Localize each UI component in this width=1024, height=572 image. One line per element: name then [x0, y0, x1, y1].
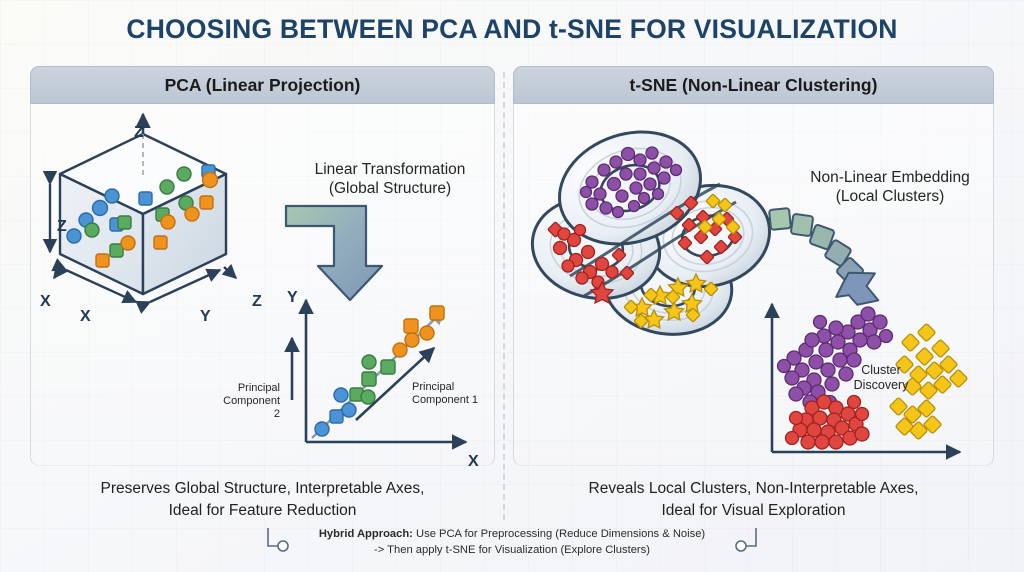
- tsne-embedding-arrow: [768, 205, 898, 305]
- cluster-red: [786, 395, 870, 449]
- pc1-label-line2: Component 1: [412, 394, 496, 407]
- cube-axis-z-outer: Z: [252, 293, 262, 311]
- caption-tsne: Reveals Local Clusters, Non-Interpretabl…: [513, 478, 994, 521]
- footer-bold-prefix: Hybrid Approach:: [319, 528, 413, 540]
- cube-axis-x-outer: X: [40, 293, 51, 311]
- proj-axis-x-label: X: [468, 453, 479, 471]
- cluster-discovery-label: Cluster Discovery: [826, 363, 936, 394]
- cluster-purple: [778, 307, 893, 409]
- caption-pca: Preserves Global Structure, Interpretabl…: [30, 478, 495, 521]
- cube-axis-y-inner: Y: [200, 308, 211, 326]
- tsne-manifold-figure: [530, 126, 780, 336]
- pca-process-label: Linear Transformation (Global Structure): [290, 160, 490, 199]
- cube-axis-x-inner: X: [80, 308, 91, 326]
- caption-pca-line1: Preserves Global Structure, Interpretabl…: [30, 478, 495, 500]
- caption-pca-line2: Ideal for Feature Reduction: [30, 500, 495, 522]
- panel-pca-header: PCA (Linear Projection): [30, 66, 495, 104]
- cube-axis-z-top: Z: [134, 124, 144, 142]
- caption-tsne-line1: Reveals Local Clusters, Non-Interpretabl…: [513, 478, 994, 500]
- proj-axis-y-label: Y: [287, 289, 298, 307]
- pc2-arrow: [282, 330, 302, 402]
- footer-line2: -> Then apply t-SNE for Visualization (E…: [262, 542, 762, 558]
- footer-line1: Hybrid Approach: Use PCA for Preprocessi…: [262, 526, 762, 542]
- cluster-discovery-line1: Cluster: [826, 363, 936, 378]
- tsne-process-label-line1: Non-Linear Embedding: [790, 168, 990, 187]
- proj-points-green: [350, 355, 395, 404]
- tsne-process-label-line2: (Local Clusters): [790, 187, 990, 206]
- footer-line1-rest: Use PCA for Preprocessing (Reduce Dimens…: [413, 528, 705, 540]
- pca-process-label-line1: Linear Transformation: [290, 160, 490, 179]
- pc2-label-line1: Principal: [218, 382, 280, 395]
- pc2-label: Principal Component 2: [218, 382, 280, 422]
- pca-process-label-line2: (Global Structure): [290, 179, 490, 198]
- proj-points-orange: [393, 306, 444, 357]
- panel-divider: [503, 72, 505, 520]
- pca-2d-projection-figure: [288, 288, 483, 463]
- tsne-process-label: Non-Linear Embedding (Local Clusters): [790, 168, 990, 207]
- caption-tsne-line2: Ideal for Visual Exploration: [513, 500, 994, 522]
- pc1-label-line1: Principal: [412, 381, 496, 394]
- panel-tsne-header: t-SNE (Non-Linear Clustering): [513, 66, 994, 104]
- page-title: CHOOSING BETWEEN PCA AND t-SNE FOR VISUA…: [0, 14, 1024, 45]
- footer-hybrid-approach: Hybrid Approach: Use PCA for Preprocessi…: [0, 524, 1024, 572]
- infographic-root: CHOOSING BETWEEN PCA AND t-SNE FOR VISUA…: [0, 0, 1024, 572]
- cube-axis-z-left: Z: [57, 218, 67, 236]
- footer-text: Hybrid Approach: Use PCA for Preprocessi…: [262, 526, 762, 558]
- pc2-label-line2: Component 2: [218, 395, 280, 421]
- cluster-discovery-line2: Discovery: [826, 378, 936, 393]
- pca-3d-cube-figure: [40, 112, 310, 332]
- pc1-label: Principal Component 1: [412, 381, 496, 407]
